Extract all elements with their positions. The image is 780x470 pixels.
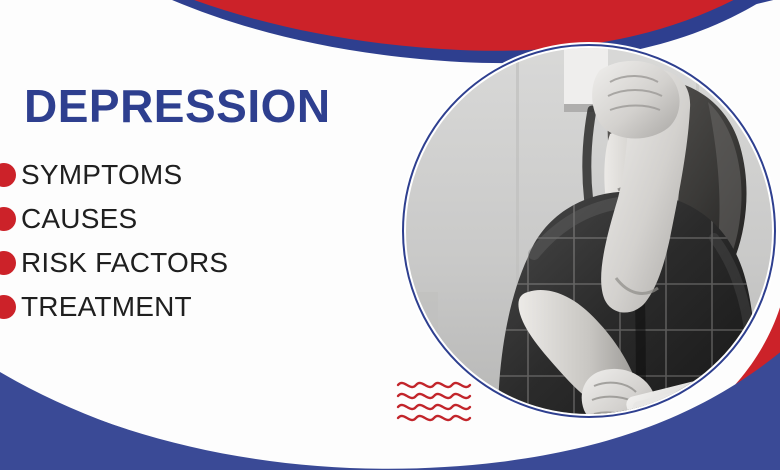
red-dot-icon <box>0 207 16 231</box>
list-item-label: TREATMENT <box>21 293 192 321</box>
depression-infographic-poster: DEPRESSION SYMPTOMS CAUSES RISK FACTORS … <box>0 0 780 470</box>
red-dot-icon <box>0 163 16 187</box>
red-wave-mark-icon <box>396 378 492 422</box>
list-item-label: SYMPTOMS <box>21 161 182 189</box>
page-title: DEPRESSION <box>24 83 331 129</box>
list-item-treatment[interactable]: TREATMENT <box>0 285 420 329</box>
red-dot-icon <box>0 295 16 319</box>
topic-list: SYMPTOMS CAUSES RISK FACTORS TREATMENT <box>0 153 420 329</box>
red-dot-icon <box>0 251 16 275</box>
poster-text-content: DEPRESSION SYMPTOMS CAUSES RISK FACTORS … <box>0 0 420 470</box>
list-item-causes[interactable]: CAUSES <box>0 197 420 241</box>
list-item-label: RISK FACTORS <box>21 249 228 277</box>
photo-ring <box>402 44 776 418</box>
photo-circle <box>402 44 776 418</box>
list-item-risk-factors[interactable]: RISK FACTORS <box>0 241 420 285</box>
list-item-symptoms[interactable]: SYMPTOMS <box>0 153 420 197</box>
list-item-label: CAUSES <box>21 205 137 233</box>
